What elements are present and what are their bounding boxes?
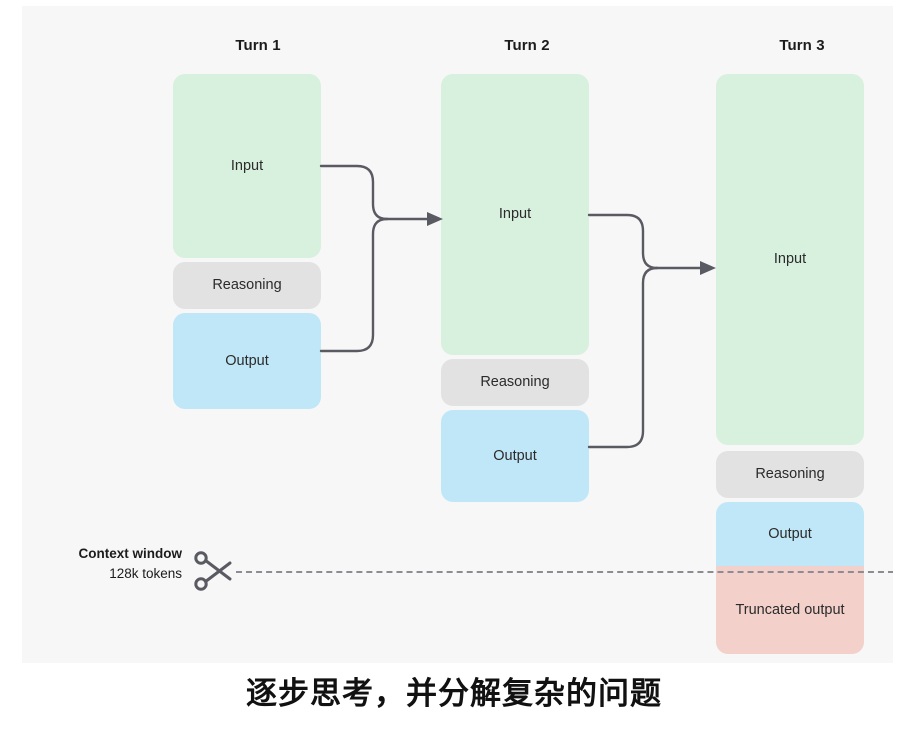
turn-3-output-block: Output: [716, 502, 864, 566]
context-window-label: Context window 128k tokens: [22, 544, 182, 583]
turn-2-input-block: Input: [441, 74, 589, 355]
diagram-canvas: Turn 1 Turn 2 Turn 3 Input Reasoning Out…: [22, 6, 893, 663]
turn-2-reasoning-block: Reasoning: [441, 359, 589, 406]
column-header-turn-3: Turn 3: [716, 37, 888, 54]
turn-1-reasoning-block: Reasoning: [173, 262, 321, 309]
turn-3-truncated-output-block: Truncated output: [716, 566, 864, 654]
turn-1-output-label: Output: [225, 352, 269, 371]
turn-3-reasoning-block: Reasoning: [716, 451, 864, 498]
turn-1-reasoning-label: Reasoning: [212, 276, 281, 295]
turn-3-truncated-output-label: Truncated output: [735, 601, 844, 620]
turn-3-reasoning-label: Reasoning: [755, 465, 824, 484]
turn-3-input-label: Input: [774, 250, 806, 269]
context-window-title: Context window: [22, 544, 182, 564]
caption-text: 逐步思考，并分解复杂的问题: [0, 668, 908, 713]
scissors-icon: [194, 549, 234, 593]
turn-1-input-block: Input: [173, 74, 321, 258]
turn-3-output-label: Output: [768, 525, 812, 544]
turn-2-input-label: Input: [499, 205, 531, 224]
turn-1-input-label: Input: [231, 157, 263, 176]
turn-3-input-block: Input: [716, 74, 864, 445]
column-header-turn-2: Turn 2: [441, 37, 613, 54]
turn-2-output-block: Output: [441, 410, 589, 502]
turn-2-output-label: Output: [493, 447, 537, 466]
context-window-subtitle: 128k tokens: [22, 564, 182, 584]
arrowhead-icon: [700, 261, 716, 275]
context-window-cut-line: [236, 571, 893, 573]
turn-2-reasoning-label: Reasoning: [480, 373, 549, 392]
column-header-turn-1: Turn 1: [172, 37, 344, 54]
turn-1-output-block: Output: [173, 313, 321, 409]
connector-turn1-to-turn2: [317, 146, 447, 371]
connector-turn2-to-turn3: [585, 196, 720, 466]
